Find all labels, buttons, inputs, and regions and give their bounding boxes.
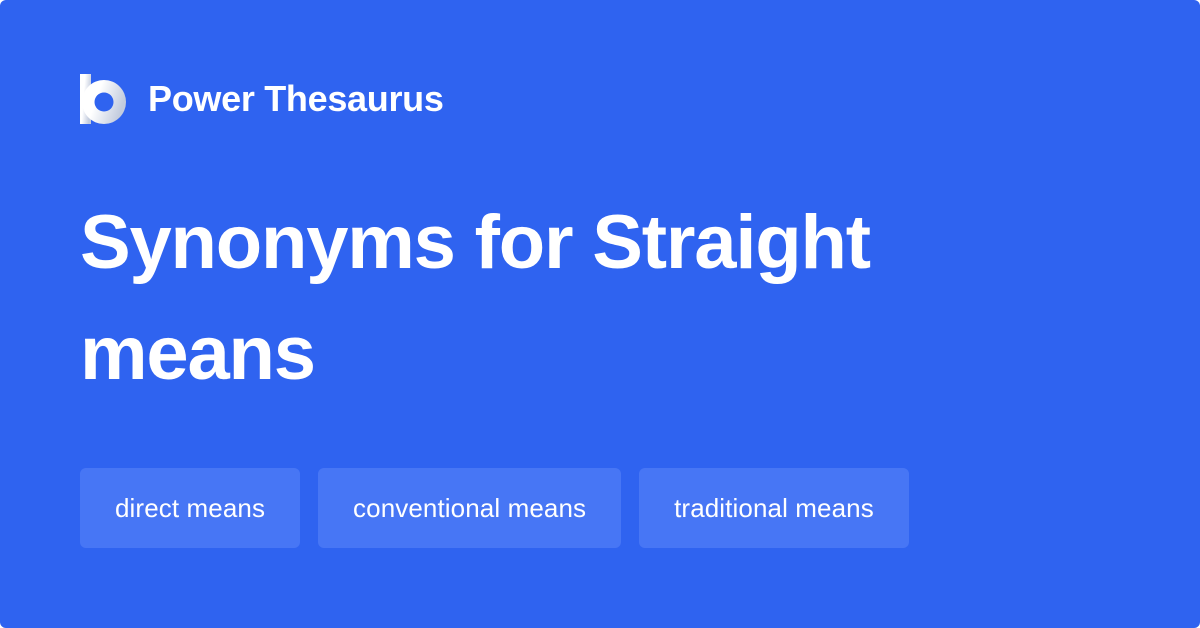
synonym-chip-label: direct means xyxy=(115,495,265,521)
synonym-chip-list: direct means conventional means traditio… xyxy=(80,468,909,548)
synonym-chip[interactable]: conventional means xyxy=(318,468,621,548)
og-card: Power Thesaurus Synonyms for Straight me… xyxy=(0,0,1200,628)
brand-header[interactable]: Power Thesaurus xyxy=(80,74,444,124)
synonym-chip-label: conventional means xyxy=(353,495,586,521)
power-thesaurus-b-logo-icon xyxy=(80,74,126,124)
synonym-chip[interactable]: traditional means xyxy=(639,468,909,548)
synonym-chip[interactable]: direct means xyxy=(80,468,300,548)
page-title: Synonyms for Straight means xyxy=(80,188,1100,410)
brand-name: Power Thesaurus xyxy=(148,81,444,117)
synonym-chip-label: traditional means xyxy=(674,495,874,521)
